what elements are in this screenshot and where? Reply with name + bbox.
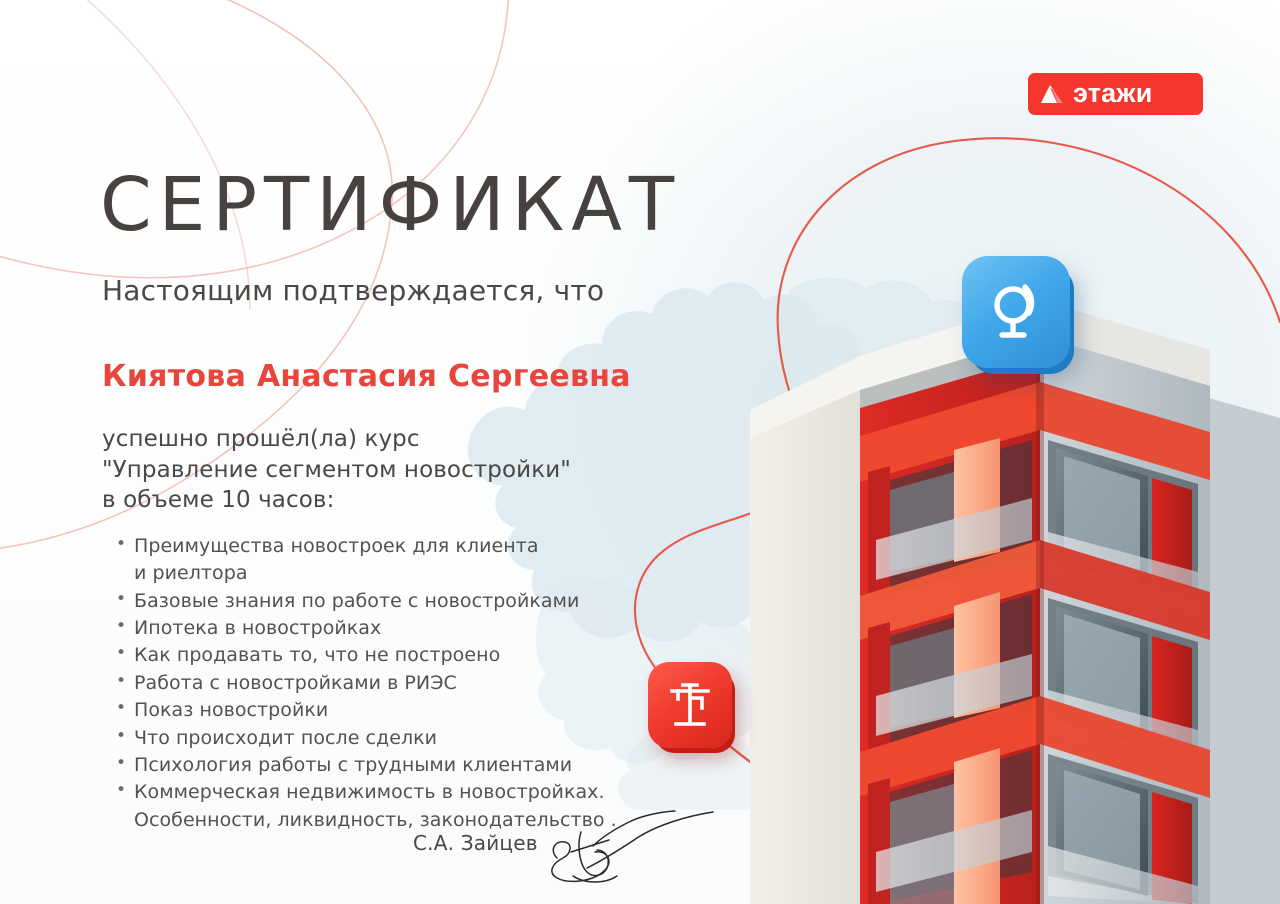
- globe-badge: [962, 256, 1070, 368]
- course-intro: успешно прошёл(ла) курс: [102, 424, 571, 455]
- course-hours: в объеме 10 часов:: [102, 485, 571, 516]
- topic-item: Коммерческая недвижимость в новостройках…: [110, 779, 617, 806]
- course-block: успешно прошёл(ла) курс "Управление сегм…: [102, 424, 571, 516]
- house-roof-icon: [1039, 83, 1065, 105]
- page-title: СЕРТИФИКАТ: [100, 168, 681, 242]
- topic-item: Психология работы с трудными клиентами: [110, 752, 617, 779]
- topics-list: Преимущества новостроек для клиентаи рие…: [110, 533, 617, 834]
- brand-logo-text: этажи: [1073, 80, 1153, 107]
- course-title: "Управление сегментом новостройки": [102, 455, 571, 486]
- topic-item: Что происходит после сделки: [110, 725, 617, 752]
- topic-item: Преимущества новостроек для клиента: [110, 533, 617, 560]
- crane-badge: [648, 662, 732, 748]
- recipient-name: Киятова Анастасия Сергеевна: [102, 359, 631, 394]
- topic-item: Работа с новостройками в РИЭС: [110, 670, 617, 697]
- globe-icon: [985, 279, 1047, 345]
- topic-item: Ипотека в новостройках: [110, 615, 617, 642]
- certificate-subtitle: Настоящим подтверждается, что: [102, 274, 604, 307]
- brand-logo[interactable]: этажи: [1028, 73, 1203, 115]
- certificate-page: этажи СЕРТИФИКАТ Настоящим подтверждаетс…: [0, 0, 1280, 904]
- topic-item: и риелтора: [110, 560, 617, 587]
- topic-item: Базовые знания по работе с новостройками: [110, 588, 617, 615]
- signer-name: С.А. Зайцев: [413, 831, 538, 855]
- topic-item: Показ новостройки: [110, 697, 617, 724]
- topic-item: Как продавать то, что не построено: [110, 642, 617, 669]
- construction-crane-icon: [666, 680, 714, 730]
- handwritten-signature: [537, 806, 727, 891]
